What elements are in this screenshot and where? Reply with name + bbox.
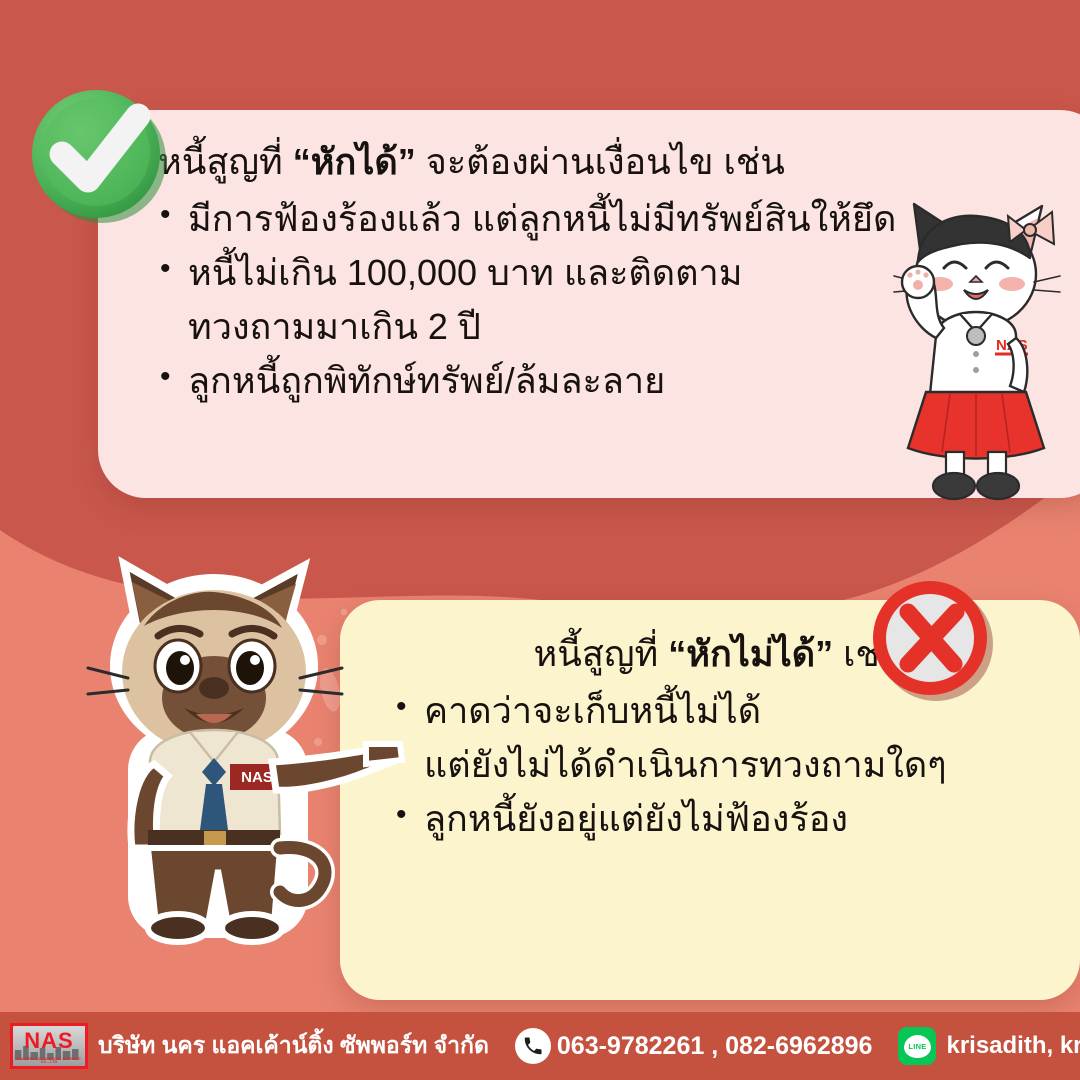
phone-icon — [515, 1028, 551, 1064]
white-cat-mascot: NAS — [878, 186, 1074, 504]
list-item: หนี้ไม่เกิน 100,000 บาท และติดตาม — [158, 246, 948, 300]
bottom-card-bullet-list: คาดว่าจะเก็บหนี้ไม่ได้ แต่ยังไม่ได้ดำเนิ… — [394, 684, 1044, 846]
list-item: ลูกหนี้ยังอยู่แต่ยังไม่ฟ้องร้อง — [394, 792, 1044, 846]
top-heading-post: จะต้องผ่านเงื่อนไข เช่น — [416, 141, 785, 182]
x-circle-icon — [868, 576, 996, 704]
bell-icon — [967, 327, 985, 345]
top-card-text: หนี้สูญที่ “หักได้” จะต้องผ่านเงื่อนไข เ… — [158, 138, 948, 408]
brown-cat-mascot: NAS — [66, 548, 406, 954]
line-ids: krisadith, krisadithtk — [946, 1032, 1080, 1060]
line-badge-text: LINE — [904, 1035, 931, 1058]
nas-logo-word: NAS — [13, 1030, 85, 1052]
top-card-heading: หนี้สูญที่ “หักได้” จะต้องผ่านเงื่อนไข เ… — [158, 138, 948, 186]
nas-logo-subtitle: NAKORN ACCOUNTING SUPPORT CO., LTD — [13, 1058, 85, 1065]
svg-text:NAS: NAS — [241, 769, 273, 786]
bottom-heading-bold: “หักไม่ได้” — [668, 633, 833, 674]
top-heading-pre: หนี้สูญที่ — [158, 141, 293, 182]
phone-numbers: 063-9782261 , 082-6962896 — [557, 1032, 873, 1061]
bottom-heading-pre: หนี้สูญที่ — [534, 633, 669, 674]
list-item: แต่ยังไม่ได้ดำเนินการทวงถามใดๆ — [394, 738, 1044, 792]
top-heading-bold: “หักได้” — [293, 141, 416, 182]
company-name: บริษัท นคร แอคเค้าน์ติ้ง ซัพพอร์ท จำกัด — [98, 1028, 489, 1064]
list-item: ลูกหนี้ถูกพิทักษ์ทรัพย์/ล้มละลาย — [158, 354, 948, 408]
line-icon: LINE — [898, 1027, 936, 1065]
footer-bar: NAS NAKORN ACCOUNTING SUPPORT CO., LTD บ… — [0, 1012, 1080, 1080]
check-circle-icon — [22, 78, 174, 230]
cat-nose — [199, 677, 229, 699]
list-item: มีการฟ้องร้องแล้ว แต่ลูกหนี้ไม่มีทรัพย์ส… — [158, 192, 948, 246]
list-item: ทวงถามมาเกิน 2 ปี — [158, 300, 948, 354]
nas-logo: NAS NAKORN ACCOUNTING SUPPORT CO., LTD — [10, 1023, 88, 1069]
top-card-bullet-list: มีการฟ้องร้องแล้ว แต่ลูกหนี้ไม่มีทรัพย์ส… — [158, 192, 948, 408]
